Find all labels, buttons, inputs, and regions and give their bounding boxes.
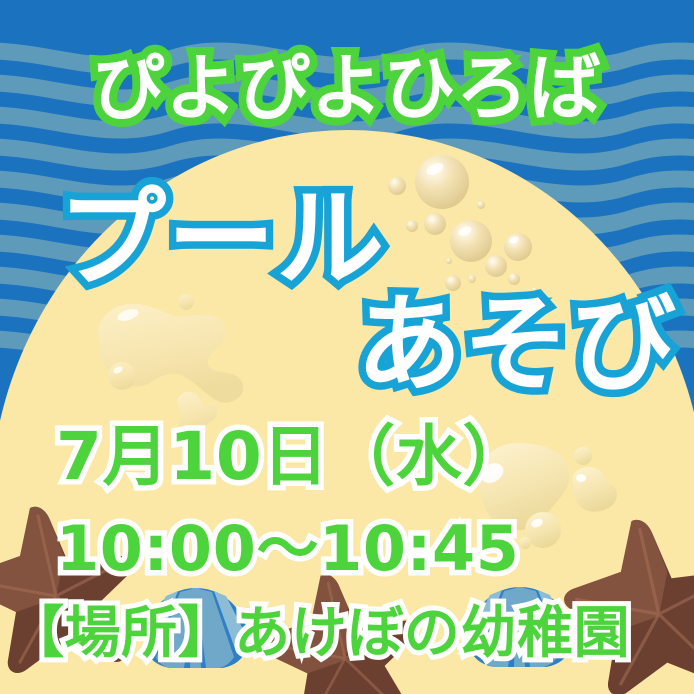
water-puddle-icon bbox=[78, 288, 268, 438]
page-title: ぴよぴよひろば bbox=[0, 52, 694, 124]
event-place: 【場所】あけぼの幼稚園 bbox=[8, 606, 630, 662]
organization-title-text: ぴよぴよひろば bbox=[92, 52, 601, 124]
event-time: 10:00〜10:45 bbox=[56, 518, 520, 580]
event-title-line2: あそび bbox=[356, 292, 677, 398]
event-date: 7月10日（水） bbox=[56, 424, 529, 490]
poster-canvas: ぴよぴよひろば プール あそび 7月10日（水） 10:00〜10:45 【場所… bbox=[0, 0, 694, 694]
event-title-line1: プール bbox=[58, 186, 385, 294]
